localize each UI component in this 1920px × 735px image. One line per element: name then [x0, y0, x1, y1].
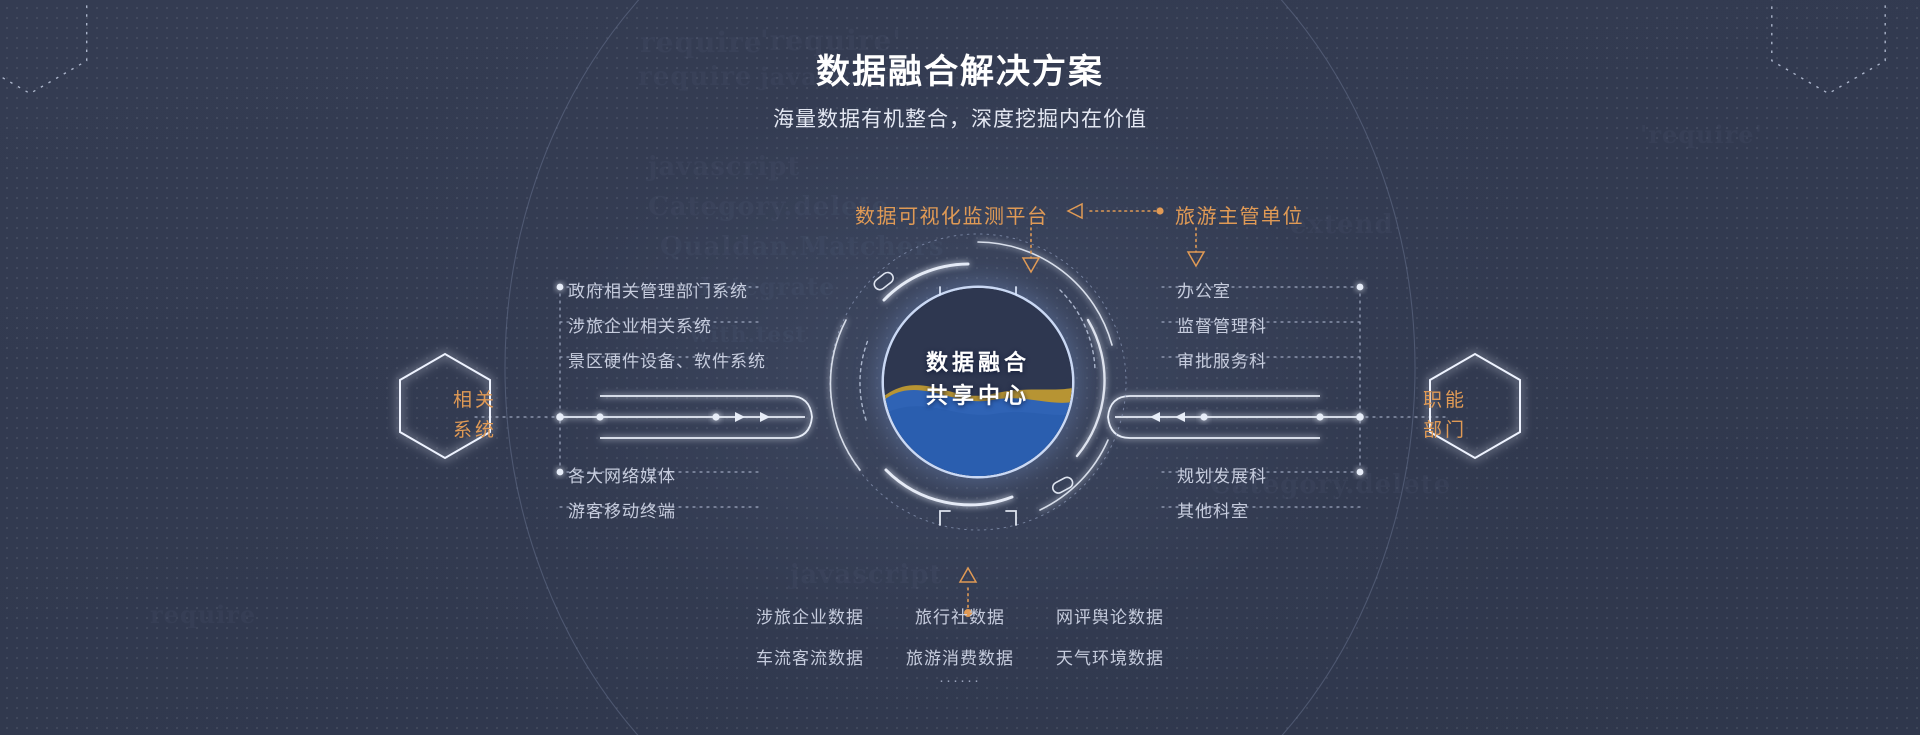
right-item-supervision-department: 监督管理科: [1177, 312, 1267, 337]
label-visualization-platform[interactable]: 数据可视化监测平台: [855, 200, 1049, 229]
hexagon-left-line2: 系统: [400, 416, 550, 446]
background-code-text: javascript: [790, 560, 942, 590]
center-line-1: 数据融合: [884, 346, 1072, 379]
left-item-government-systems: 政府相关管理部门系统: [568, 277, 748, 302]
bottom-data-sources: 涉旅企业数据 旅行社数据 网评舆论数据 车流客流数据 旅游消费数据 天气环境数据: [735, 603, 1185, 669]
center-hub-text: 数据融合 共享中心: [884, 346, 1072, 412]
hexagon-functional-departments[interactable]: 职能 部门: [1370, 340, 1520, 500]
page-subtitle: 海量数据有机整合，深度挖掘内在价值: [0, 103, 1920, 133]
bottom-item-weather-environment-data: 天气环境数据: [1056, 644, 1164, 669]
bottom-item-tourism-consumption-data: 旅游消费数据: [906, 644, 1014, 669]
left-flow-channel: [560, 396, 812, 438]
hexagon-left-text: 相关 系统: [400, 386, 550, 446]
right-dotted-connector-nodes: [1356, 284, 1364, 476]
background-code-text: Qualdan.Matchers: [660, 232, 945, 262]
bottom-ellipsis: ······: [0, 672, 1920, 689]
center-line-2: 共享中心: [884, 379, 1072, 412]
background-code-text: javascript: [648, 152, 800, 182]
bottom-item-traffic-flow-data: 车流客流数据: [756, 644, 864, 669]
bottom-item-enterprise-data: 涉旅企业数据: [756, 603, 864, 628]
right-item-planning-development: 规划发展科: [1177, 462, 1267, 487]
left-item-network-media: 各大网络媒体: [568, 462, 676, 487]
arrow-up-head-icon: [960, 568, 976, 582]
blue-fill-shade: [884, 406, 1072, 476]
arrow-left-head-icon: [1068, 204, 1082, 218]
left-dotted-connector-nodes: [556, 284, 564, 476]
background-code-text: extend: [1290, 210, 1394, 240]
label-tourism-authority[interactable]: 旅游主管单位: [1175, 200, 1304, 229]
right-item-other-departments: 其他科室: [1177, 497, 1249, 522]
background-code-text: require: [150, 600, 256, 629]
arrow-down-head-icon: [1023, 258, 1039, 272]
bottom-item-travel-agency-data: 旅行社数据: [915, 603, 1005, 628]
hexagon-left-line1: 相关: [400, 386, 550, 416]
left-item-tourism-enterprise-systems: 涉旅企业相关系统: [568, 312, 712, 337]
left-item-tourist-mobile-terminal: 游客移动终端: [568, 497, 676, 522]
bottom-item-online-review-data: 网评舆论数据: [1056, 603, 1164, 628]
left-item-scenic-hardware-software: 景区硬件设备、软件系统: [568, 347, 766, 372]
hexagon-related-systems[interactable]: 相关 系统: [400, 340, 550, 500]
arrow-down-head-icon: [1188, 252, 1204, 266]
hexagon-right-line2: 部门: [1370, 416, 1520, 446]
hexagon-right-line1: 职能: [1370, 386, 1520, 416]
page-title: 数据融合解决方案: [0, 44, 1920, 93]
left-flow-arrows: [596, 412, 770, 422]
background-code-text: Category.delete: [648, 192, 889, 222]
right-item-approval-service: 审批服务科: [1177, 347, 1267, 372]
right-flow-channel: [1108, 396, 1360, 438]
right-flow-arrows: [1150, 412, 1324, 422]
orange-node-dot: [1156, 207, 1163, 214]
center-hub[interactable]: 数据融合 共享中心: [884, 288, 1072, 476]
right-item-office: 办公室: [1177, 277, 1231, 302]
infographic-canvas: require 'require' require javascript jav…: [0, 0, 1920, 735]
hexagon-right-text: 职能 部门: [1370, 386, 1520, 446]
